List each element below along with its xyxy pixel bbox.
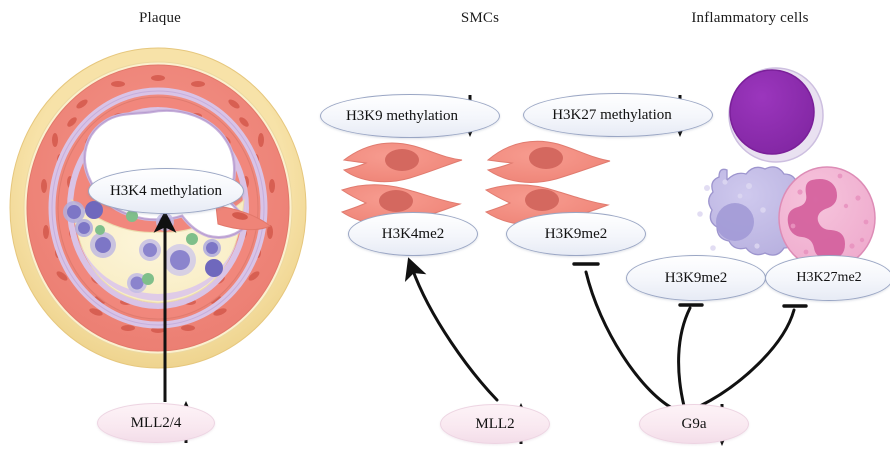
- edge-g9a-to-h3k9me2-inflammatory: [679, 305, 702, 406]
- node-label: H3K27 methylation: [552, 108, 672, 123]
- node-h3k27-methylation[interactable]: H3K27 methylation: [523, 93, 713, 137]
- figure-canvas: Plaque SMCs Inflammatory cells: [0, 0, 890, 456]
- plaque-core: [72, 200, 244, 303]
- node-h3k9-methylation[interactable]: H3K9 methylation: [320, 94, 500, 138]
- node-g9a[interactable]: G9a: [639, 404, 749, 444]
- node-label: H3K27me2: [796, 271, 861, 285]
- node-label: H3K9me2: [665, 271, 728, 286]
- node-h3k4-methylation[interactable]: H3K4 methylation: [88, 168, 244, 214]
- node-h3k4me2[interactable]: H3K4me2: [348, 212, 478, 256]
- core-cells: [63, 201, 223, 293]
- node-label: MLL2/4: [131, 416, 182, 431]
- node-label: G9a: [682, 417, 707, 432]
- node-h3k27me2-inflammatory[interactable]: H3K27me2: [765, 255, 890, 301]
- edge-g9a-to-h3k27me2-inflammatory: [700, 306, 806, 406]
- node-label: H3K9 methylation: [346, 109, 458, 124]
- node-label: H3K9me2: [545, 227, 608, 242]
- node-label: MLL2: [475, 417, 514, 432]
- column-title-inflammatory-cells: Inflammatory cells: [640, 10, 860, 27]
- column-title-smcs: SMCs: [420, 10, 540, 27]
- inflammatory-cells: [697, 68, 875, 269]
- lymphocyte: [729, 68, 823, 162]
- node-label: H3K4 methylation: [110, 184, 222, 199]
- node-label: H3K4me2: [382, 227, 445, 242]
- smc-cell: [488, 141, 610, 182]
- node-h3k9me2-smc[interactable]: H3K9me2: [506, 212, 646, 256]
- column-title-plaque: Plaque: [70, 10, 250, 27]
- monocyte: [697, 167, 807, 255]
- neutrophil: [779, 167, 875, 269]
- node-mll2[interactable]: MLL2: [440, 404, 550, 444]
- node-mll24[interactable]: MLL2/4: [97, 403, 215, 443]
- node-h3k9me2-inflammatory[interactable]: H3K9me2: [626, 255, 766, 301]
- smc-cell: [344, 143, 462, 182]
- edge-mll2-to-h3k4me2: [412, 268, 497, 400]
